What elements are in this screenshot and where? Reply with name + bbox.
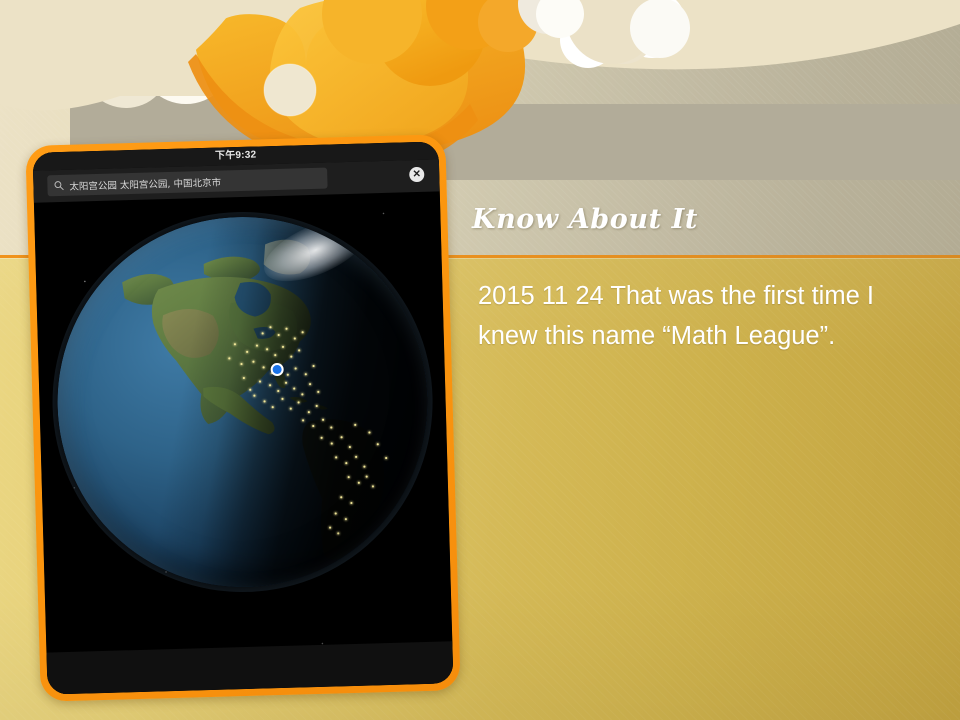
clear-search-button[interactable]: ✕ (409, 167, 424, 182)
globe-sphere (52, 212, 432, 592)
search-icon (53, 180, 64, 191)
page-title: Know About It (472, 204, 698, 235)
city-lights-layer (52, 212, 432, 592)
search-input[interactable]: 太阳宫公园 太阳宫公园, 中国北京市 (47, 168, 327, 197)
tablet-device[interactable]: 下午9:32 太阳宫公园 太阳宫公园, 中国北京市 ✕ (25, 134, 460, 702)
body-paragraph: 2015 11 24 That was the first time I kne… (478, 276, 878, 356)
earth-globe-view[interactable] (33, 141, 454, 694)
tablet-screen[interactable]: 下午9:32 太阳宫公园 太阳宫公园, 中国北京市 ✕ (33, 141, 454, 694)
slide-canvas: 下午9:32 太阳宫公园 太阳宫公园, 中国北京市 ✕ Know About I… (0, 0, 960, 720)
search-input-value: 太阳宫公园 太阳宫公园, 中国北京市 (69, 174, 221, 192)
globe-container (52, 212, 432, 592)
